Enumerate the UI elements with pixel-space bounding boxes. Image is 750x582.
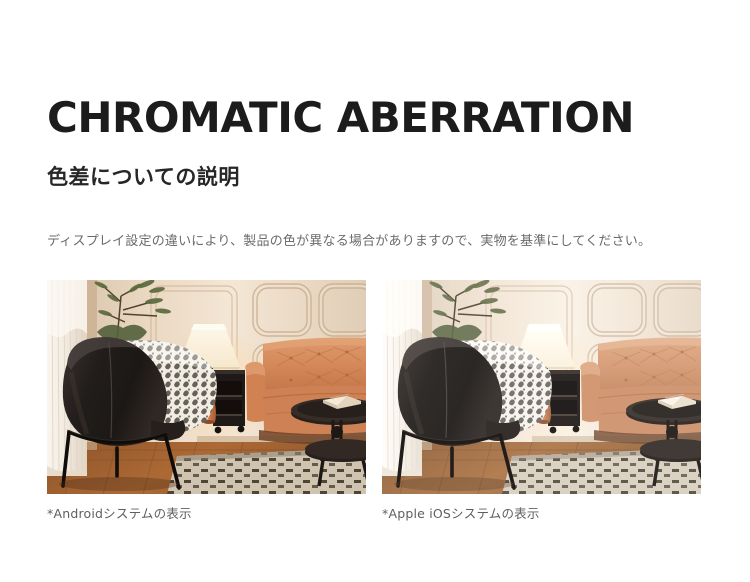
interior-scene-android-illustration: [47, 280, 366, 494]
chromatic-aberration-page: CHROMATIC ABERRATION 色差についての説明 ディスプレイ設定の…: [0, 0, 750, 582]
page-title: CHROMATIC ABERRATION: [47, 92, 707, 144]
heading-block: CHROMATIC ABERRATION 色差についての説明: [47, 92, 707, 192]
caption-ios: *Apple iOSシステムの表示: [382, 505, 701, 523]
page-subtitle: 色差についての説明: [47, 162, 707, 192]
caption-android: *Androidシステムの表示: [47, 505, 366, 523]
interior-scene-ios-illustration: [382, 280, 701, 494]
description-text: ディスプレイ設定の違いにより、製品の色が異なる場合がありますので、実物を基準にし…: [47, 232, 727, 252]
gallery-image-android: [47, 280, 366, 494]
caption-row: *Androidシステムの表示 *Apple iOSシステムの表示: [47, 505, 701, 523]
image-gallery: [47, 280, 701, 494]
gallery-image-ios: [382, 280, 701, 494]
